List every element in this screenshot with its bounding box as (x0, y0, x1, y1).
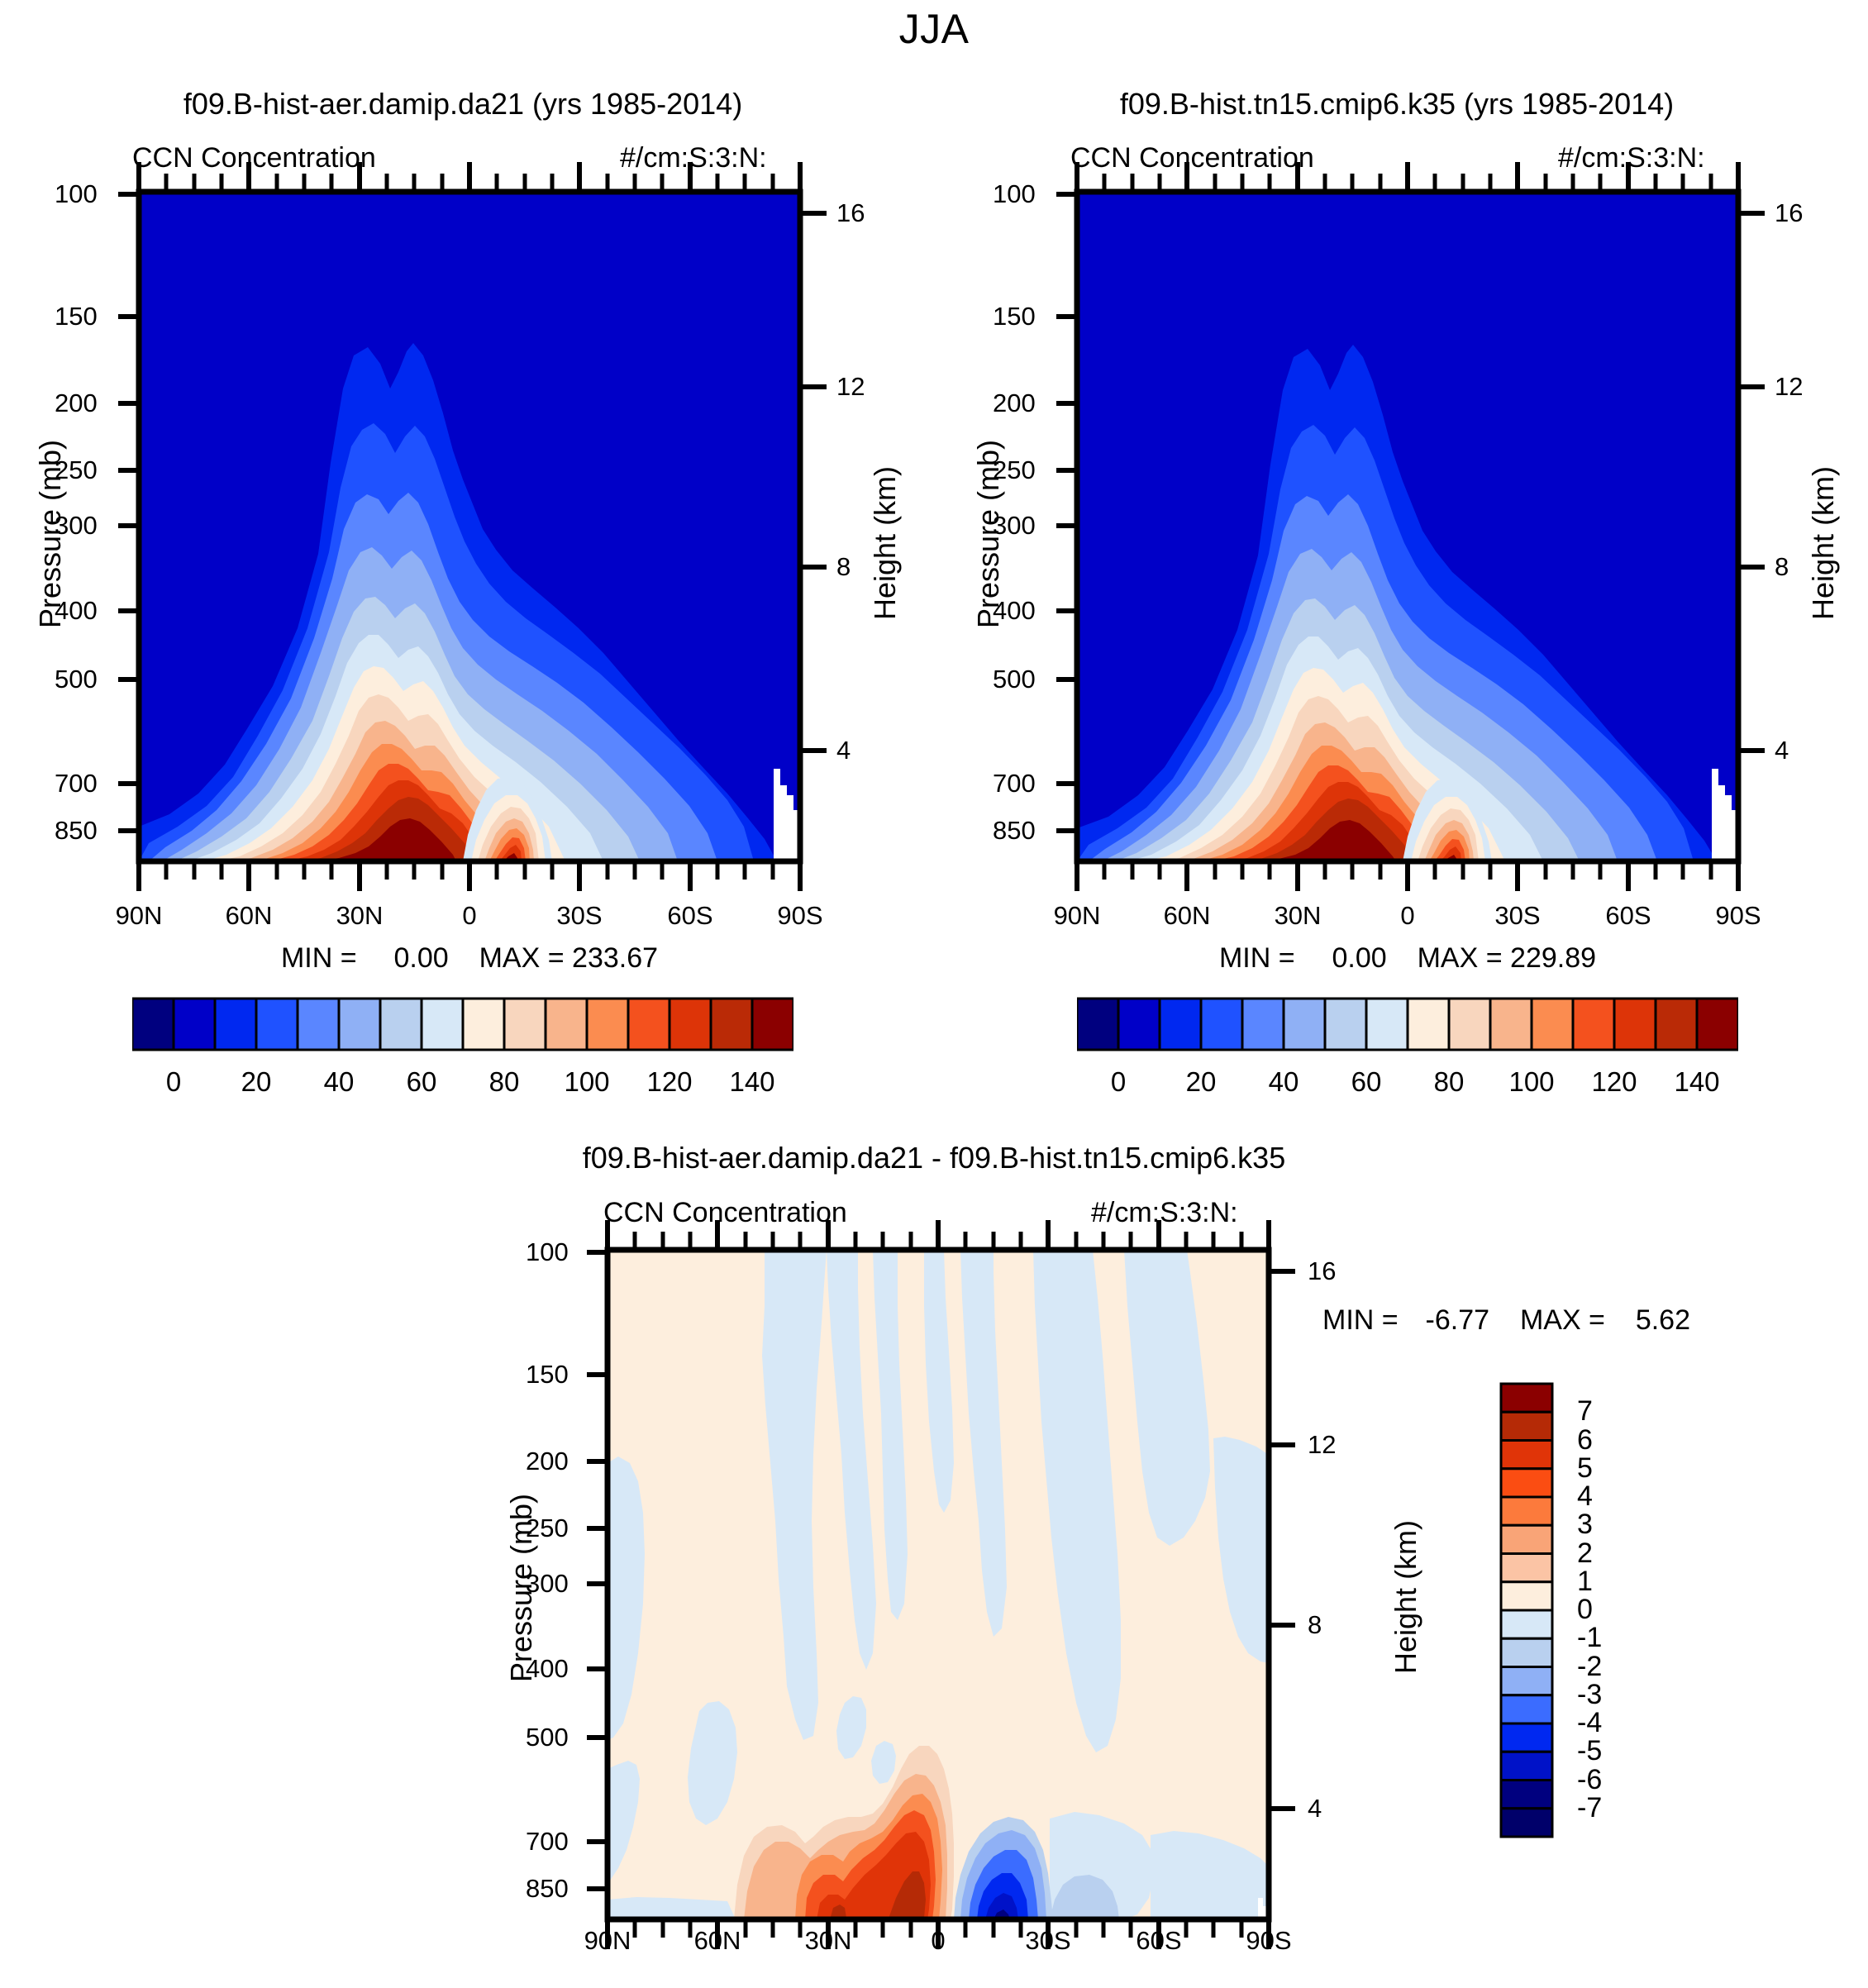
panel-diff-xtick-0: 0 (905, 1926, 971, 1956)
panel-left-y2tick-16: 16 (836, 198, 865, 228)
panel-diff-ytick-850: 850 (526, 1874, 569, 1904)
panel-right-ytick-500: 500 (993, 665, 1036, 694)
panel-diff-colorbar-swatch (1501, 1441, 1552, 1469)
panel-right-ytick-200: 200 (993, 389, 1036, 418)
panel-left-colorbar-swatch (132, 999, 174, 1050)
panel-right-colorbar-swatch (1366, 999, 1408, 1050)
panel-left-colorbar-ticklabel: 140 (711, 1066, 793, 1098)
panel-right-ytick-400: 400 (993, 596, 1036, 626)
panel-left-ytick-850: 850 (55, 816, 98, 846)
panel-left-colorbar-ticklabel: 0 (132, 1066, 215, 1098)
panel-left-colorbar-swatch (504, 999, 546, 1050)
panel-diff-colorbar-swatch (1501, 1667, 1552, 1695)
panel-right-y2tick-16: 16 (1775, 198, 1803, 228)
panel-right-colorbar-swatch (1573, 999, 1614, 1050)
panel-left-ytick-250: 250 (55, 455, 98, 485)
panel-diff-colorbar-swatch (1501, 1525, 1552, 1553)
panel-left-minmax: MIN = 0.00 MAX = 233.67 (139, 942, 800, 975)
panel-diff-colorbar-swatch (1501, 1723, 1552, 1752)
panel-diff-ytick-700: 700 (526, 1827, 569, 1857)
panel-left-y2tick-4: 4 (836, 736, 851, 765)
panel-right-xtick-0: 0 (1375, 901, 1441, 931)
panel-right-ytick-100: 100 (993, 179, 1036, 209)
panel-diff-ytick-200: 200 (526, 1447, 569, 1476)
panel-left-ytick-200: 200 (55, 389, 98, 418)
panel-left-max-value: 233.67 (572, 942, 658, 974)
panel-right-colorbar-swatch (1697, 999, 1738, 1050)
panel-right-colorbar-swatch (1325, 999, 1366, 1050)
panel-right-colorbar-swatch (1656, 999, 1697, 1050)
panel-right-colorbar-swatch (1284, 999, 1325, 1050)
panel-left-colorbar-ticklabel: 100 (546, 1066, 628, 1098)
panel-diff-ytick-500: 500 (526, 1723, 569, 1752)
panel-right-xtick-90N: 90N (1044, 901, 1110, 931)
panel-left-max-label: MAX = (479, 942, 565, 974)
panel-right-colorbar-ticklabels: 020406080100120140 (1077, 1066, 1738, 1104)
panel-diff-colorbar[interactable] (1496, 1379, 1562, 1842)
panel-right-colorbar-swatch (1614, 999, 1656, 1050)
panel-diff-xtick-60N: 60N (684, 1926, 751, 1956)
panel-diff-xtick-90S: 90S (1236, 1926, 1302, 1956)
panel-diff-ytick-400: 400 (526, 1654, 569, 1684)
panel-diff-y2tick-4: 4 (1308, 1794, 1322, 1824)
panel-right-colorbar-ticklabel: 0 (1077, 1066, 1160, 1098)
panel-left-colorbar-swatch (174, 999, 215, 1050)
panel-left-colorbar-swatch (711, 999, 752, 1050)
panel-left-xtick-30S: 30S (546, 901, 612, 931)
panel-diff-y2tick-8: 8 (1308, 1610, 1322, 1640)
panel-left-min-label: MIN = (281, 942, 357, 974)
panel-right-colorbar[interactable] (1077, 992, 1738, 1058)
panel-diff-ytick-250: 250 (526, 1514, 569, 1543)
panel-diff-colorbar-swatch (1501, 1554, 1552, 1582)
panel-left-colorbar-ticklabel: 60 (380, 1066, 463, 1098)
panel-left-ytick-700: 700 (55, 769, 98, 799)
panel-diff-y2tick-12: 12 (1308, 1430, 1336, 1460)
panel-right-xtick-90S: 90S (1705, 901, 1771, 931)
panel-right-y2tick-8: 8 (1775, 552, 1789, 582)
panel-left-colorbar-swatch (298, 999, 339, 1050)
panel-left-xtick-30N: 30N (326, 901, 393, 931)
panel-left-colorbar-swatch (546, 999, 587, 1050)
panel-left-ytick-400: 400 (55, 596, 98, 626)
panel-left-y2tick-8: 8 (836, 552, 851, 582)
panel-diff-colorbar-swatch (1501, 1469, 1552, 1497)
panel-left-colorbar-swatch (422, 999, 463, 1050)
panel-diff-colorbar-swatch (1501, 1781, 1552, 1809)
panel-right-colorbar-ticklabel: 20 (1160, 1066, 1242, 1098)
panel-diff-ytick-300: 300 (526, 1569, 569, 1599)
panel-diff-plot (471, 1190, 1430, 1988)
panel-left-colorbar-ticklabel: 80 (463, 1066, 546, 1098)
panel-diff-colorbar-swatch (1501, 1809, 1552, 1837)
panel-left-xtick-60S: 60S (657, 901, 723, 931)
panel-right-colorbar-swatch (1490, 999, 1532, 1050)
panel-diff-colorbar-swatch (1501, 1610, 1552, 1638)
panel-left-colorbar[interactable] (132, 992, 793, 1058)
panel-left-colorbar-swatch (339, 999, 380, 1050)
panel-right-colorbar-ticklabel: 40 (1242, 1066, 1325, 1098)
panel-diff-max-label: MAX = (1520, 1304, 1605, 1336)
panel-diff-xtick-30N: 30N (795, 1926, 861, 1956)
panel-diff-xtick-30S: 30S (1015, 1926, 1081, 1956)
panel-right-colorbar-swatch (1077, 999, 1118, 1050)
panel-diff-y2tick-16: 16 (1308, 1256, 1336, 1286)
panel-left-ytick-300: 300 (55, 511, 98, 541)
panel-right-colorbar-swatch (1449, 999, 1490, 1050)
panel-left-colorbar-ticklabels: 020406080100120140 (132, 1066, 793, 1104)
panel-left-plot (0, 0, 934, 934)
panel-left-xtick-60N: 60N (216, 901, 282, 931)
panel-right-xtick-60N: 60N (1154, 901, 1220, 931)
panel-diff-ytick-150: 150 (526, 1360, 569, 1390)
panel-left-xtick-90N: 90N (106, 901, 172, 931)
panel-right-ytick-700: 700 (993, 769, 1036, 799)
panel-diff-ytick-100: 100 (526, 1237, 569, 1267)
panel-left-colorbar-swatch (628, 999, 670, 1050)
panel-diff-colorbar-ticklabels: 76543210-1-2-3-4-5-6-7 (1570, 1379, 1670, 1842)
panel-right-colorbar-ticklabel: 140 (1656, 1066, 1738, 1098)
panel-diff-title: f09.B-hist-aer.damip.da21 - f09.B-hist.t… (314, 1141, 1554, 1175)
panel-diff-colorbar-swatch (1501, 1412, 1552, 1440)
panel-right-xtick-30N: 30N (1265, 901, 1331, 931)
panel-right-colorbar-swatch (1242, 999, 1284, 1050)
panel-right-xtick-30S: 30S (1484, 901, 1551, 931)
panel-left-colorbar-ticklabel: 120 (628, 1066, 711, 1098)
panel-right-colorbar-swatch (1532, 999, 1573, 1050)
panel-left-min-value: 0.00 (394, 942, 449, 974)
panel-right-ytick-300: 300 (993, 511, 1036, 541)
panel-right-colorbar-swatch (1118, 999, 1160, 1050)
panel-diff-colorbar-swatch (1501, 1752, 1552, 1780)
panel-left-colorbar-swatch (215, 999, 256, 1050)
panel-diff-xtick-60S: 60S (1126, 1926, 1192, 1956)
panel-left-colorbar-swatch (256, 999, 298, 1050)
panel-right-colorbar-ticklabel: 60 (1325, 1066, 1408, 1098)
panel-right-xtick-60S: 60S (1595, 901, 1661, 931)
panel-left-ytick-100: 100 (55, 179, 98, 209)
panel-right-ytick-150: 150 (993, 302, 1036, 331)
panel-right-colorbar-swatch (1160, 999, 1201, 1050)
panel-right-colorbar-ticklabel: 80 (1408, 1066, 1490, 1098)
panel-left-ytick-500: 500 (55, 665, 98, 694)
panel-diff-colorbar-swatch (1501, 1638, 1552, 1666)
panel-right-plot (938, 0, 1868, 934)
panel-left-colorbar-ticklabel: 40 (298, 1066, 380, 1098)
panel-right-y2tick-4: 4 (1775, 736, 1789, 765)
panel-left-colorbar-swatch (463, 999, 504, 1050)
panel-left-colorbar-swatch (670, 999, 711, 1050)
panel-right-ytick-850: 850 (993, 816, 1036, 846)
panel-right-min-label: MIN = (1219, 942, 1295, 974)
panel-diff-colorbar-swatch (1501, 1582, 1552, 1610)
panel-right-colorbar-ticklabel: 120 (1573, 1066, 1656, 1098)
panel-left-xtick-0: 0 (436, 901, 503, 931)
panel-left-xtick-90S: 90S (767, 901, 833, 931)
panel-right-max-label: MAX = (1418, 942, 1503, 974)
panel-right-colorbar-ticklabel: 100 (1490, 1066, 1573, 1098)
panel-diff-colorbar-swatch (1501, 1695, 1552, 1723)
panel-left-colorbar-ticklabel: 20 (215, 1066, 298, 1098)
panel-diff-minmax: MIN = -6.77 MAX = 5.62 (1322, 1304, 1690, 1337)
panel-diff-min-label: MIN = (1322, 1304, 1399, 1336)
panel-diff-colorbar-ticklabel: -7 (1577, 1791, 1602, 1824)
panel-diff-xtick-90N: 90N (574, 1926, 641, 1956)
panel-left-ytick-150: 150 (55, 302, 98, 331)
panel-right-min-value: 0.00 (1332, 942, 1387, 974)
panel-diff-max-value: 5.62 (1636, 1304, 1690, 1336)
panel-diff-min-value: -6.77 (1426, 1304, 1490, 1336)
panel-left-y2tick-12: 12 (836, 372, 865, 402)
panel-left-colorbar-swatch (752, 999, 793, 1050)
panel-diff-colorbar-swatch (1501, 1497, 1552, 1525)
panel-right-minmax: MIN = 0.00 MAX = 229.89 (1077, 942, 1738, 975)
panel-right-max-value: 229.89 (1510, 942, 1596, 974)
panel-diff-colorbar-swatch (1501, 1384, 1552, 1412)
panel-right-colorbar-swatch (1408, 999, 1449, 1050)
panel-right-ytick-250: 250 (993, 455, 1036, 485)
panel-right-y2tick-12: 12 (1775, 372, 1803, 402)
panel-left-colorbar-swatch (587, 999, 628, 1050)
panel-right-colorbar-swatch (1201, 999, 1242, 1050)
panel-left-colorbar-swatch (380, 999, 422, 1050)
